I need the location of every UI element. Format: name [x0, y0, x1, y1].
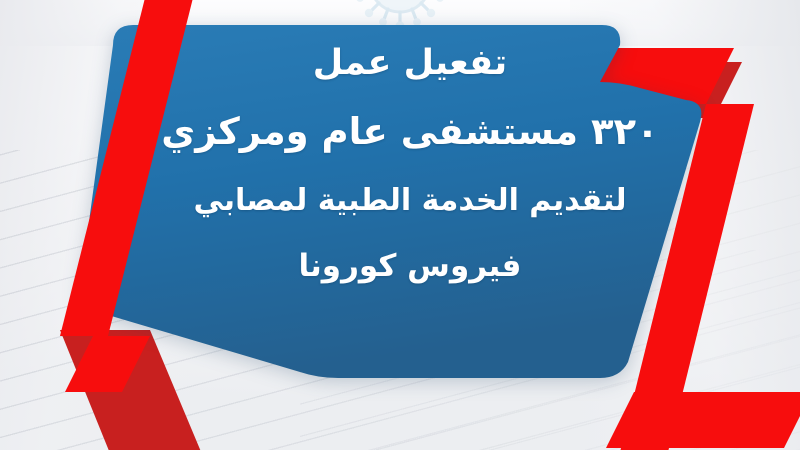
- headline-line-2: ٣٢٠ مستشفى عام ومركزي: [150, 105, 670, 160]
- headline-line-1: تفعيل عمل: [150, 38, 670, 90]
- headline-text-block: تفعيل عمل ٣٢٠ مستشفى عام ومركزي لتقديم ا…: [150, 34, 670, 364]
- headline-line-4: فيروس كورونا: [150, 244, 670, 290]
- poster-canvas: تفعيل عمل ٣٢٠ مستشفى عام ومركزي لتقديم ا…: [0, 0, 800, 450]
- headline-line-3: لتقديم الخدمة الطبية لمصابي: [150, 179, 670, 223]
